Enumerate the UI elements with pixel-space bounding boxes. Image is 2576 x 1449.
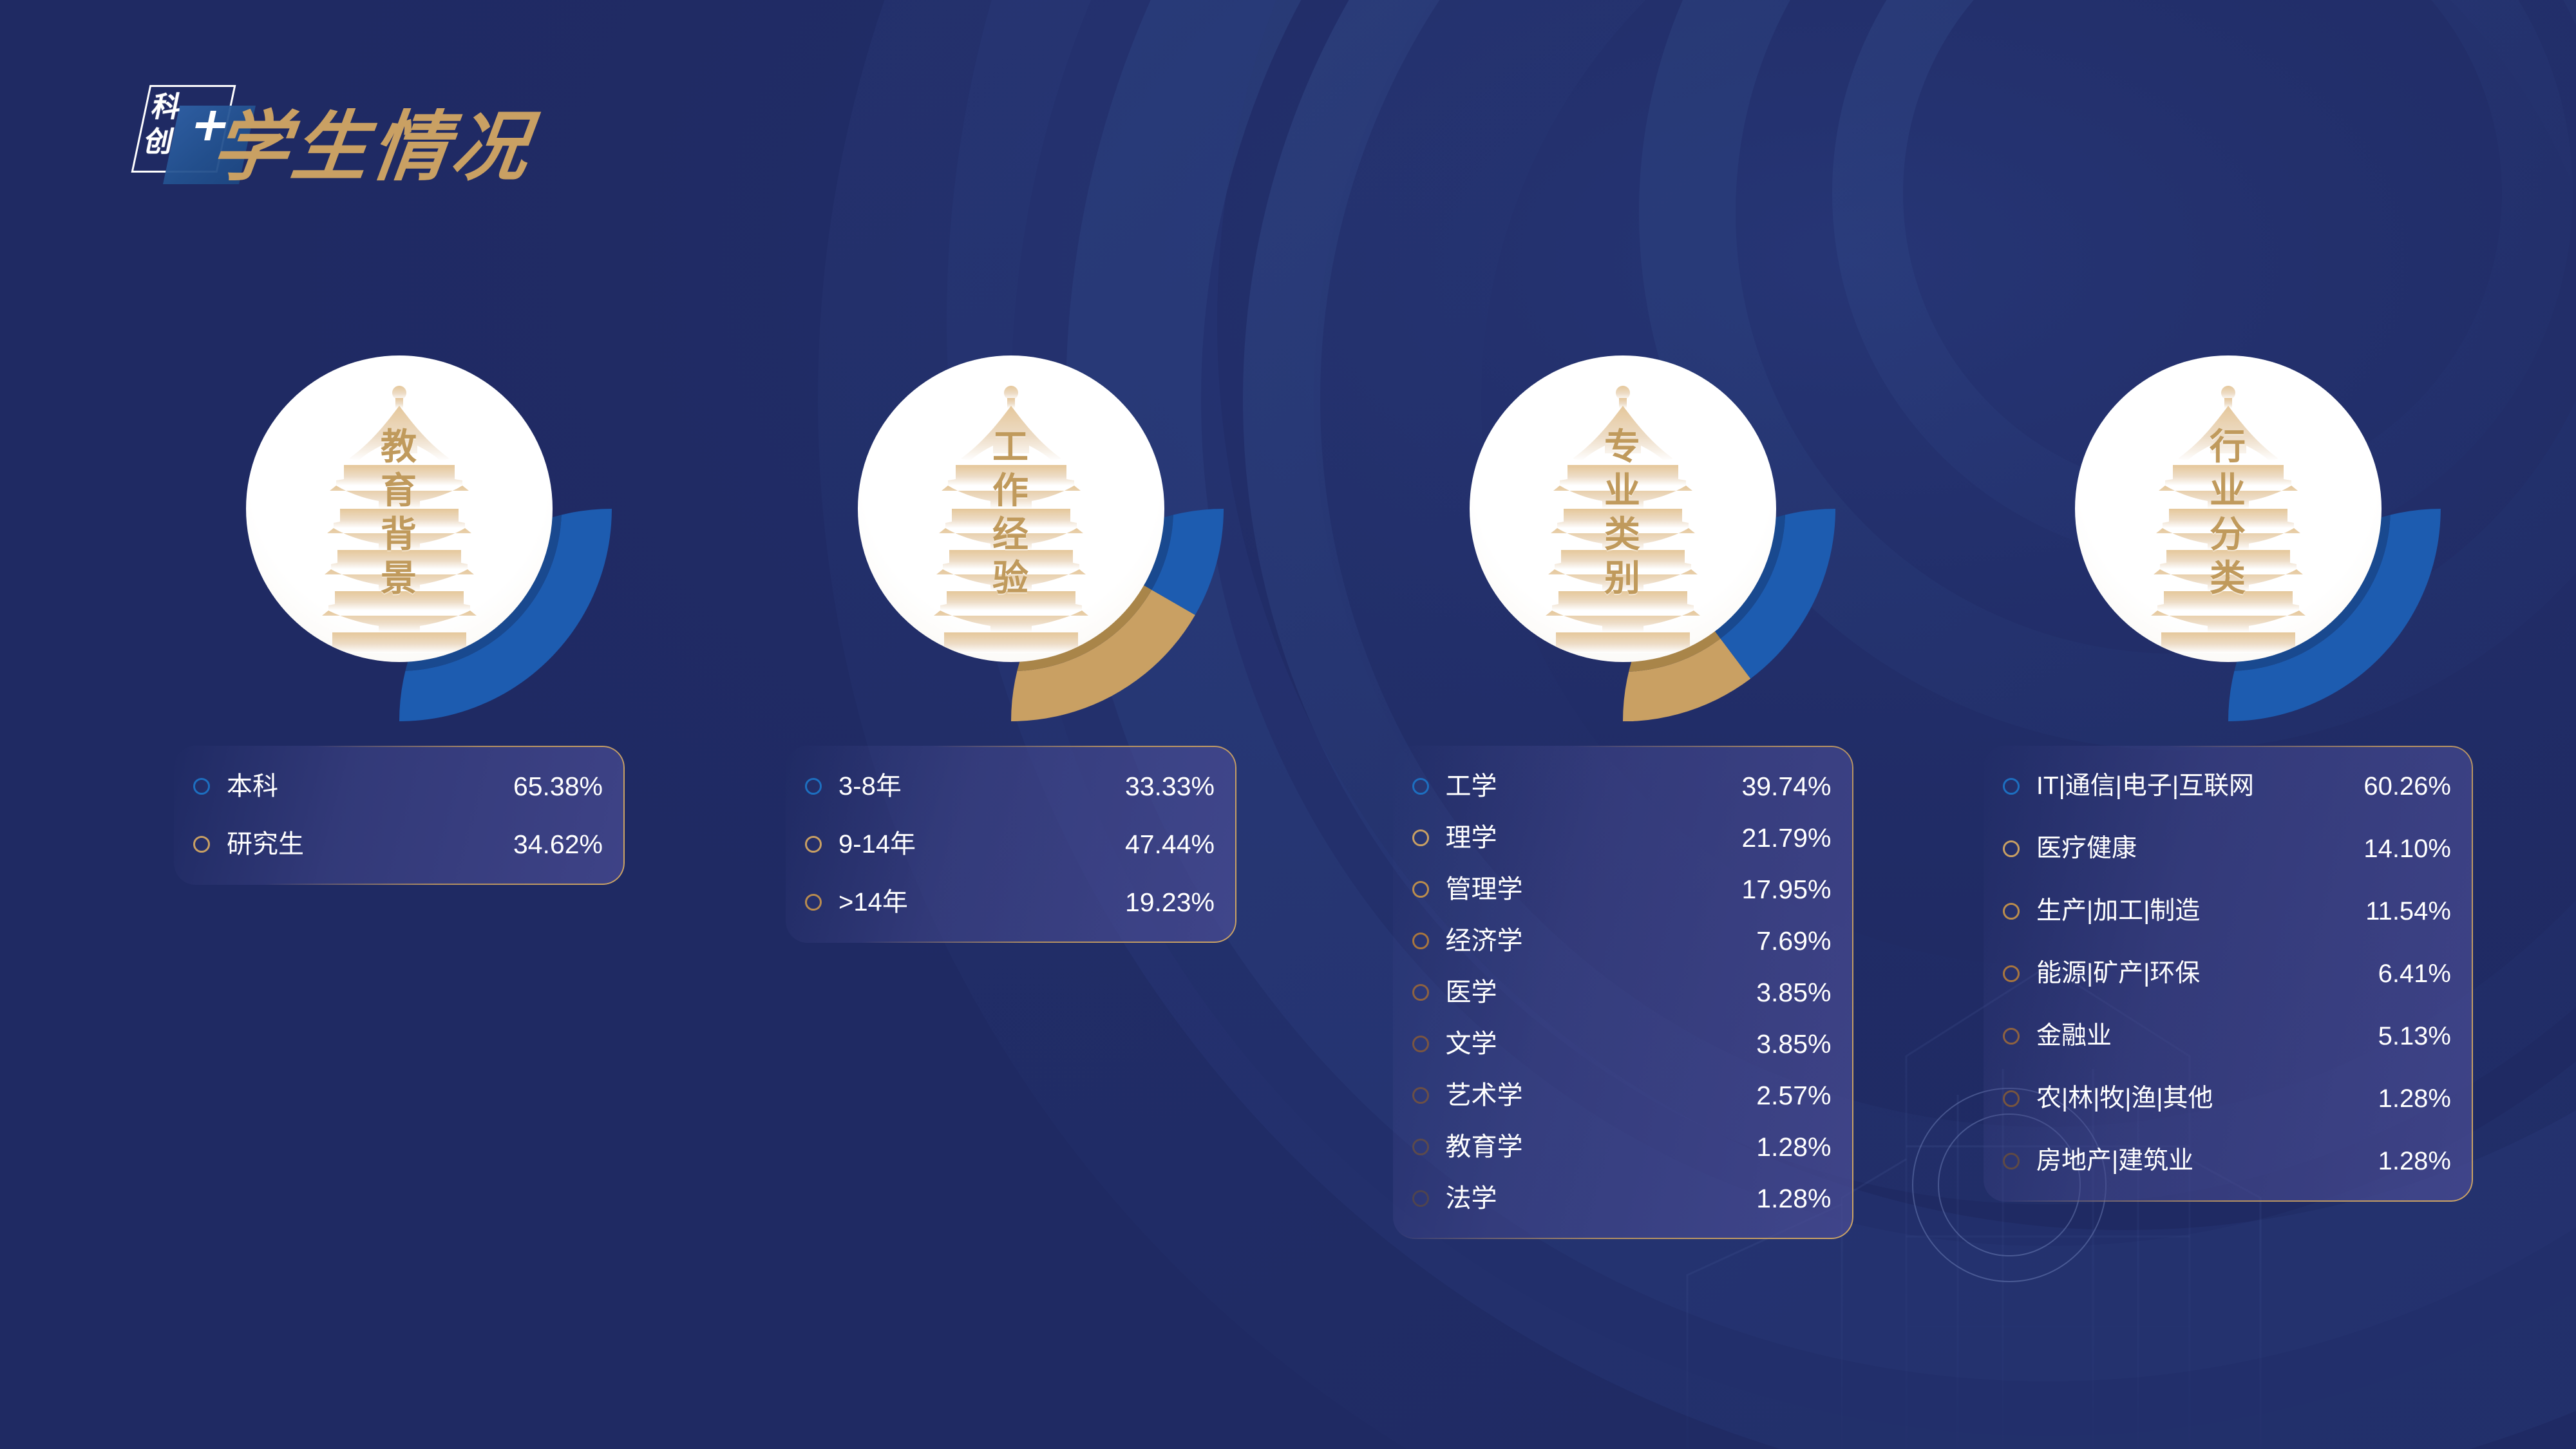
legend-item[interactable]: 医学 3.85% [1412, 978, 1832, 1007]
legend-item[interactable]: 生产|加工|制造 11.54% [2003, 896, 2451, 926]
legend-item[interactable]: 经济学 7.69% [1412, 926, 1832, 956]
legend-marker-icon [1412, 1139, 1429, 1155]
legend-value: 2.57% [1756, 1081, 1831, 1110]
legend-marker-icon [1412, 881, 1429, 898]
legend-value: 1.28% [1756, 1132, 1831, 1162]
legend-label: 能源|矿产|环保 [2036, 959, 2378, 989]
legend-item[interactable]: 农|林|牧|渔|其他 1.28% [2003, 1084, 2451, 1113]
donut-center-major: 专业类别 [1470, 355, 1776, 662]
legend-value: 11.54% [2365, 896, 2451, 926]
legend-value: 1.28% [2378, 1146, 2451, 1176]
legend-item[interactable]: 工学 39.74% [1412, 772, 1832, 801]
legend-item[interactable]: 教育学 1.28% [1412, 1132, 1832, 1162]
legend-marker-icon [193, 778, 210, 795]
legend-label: >14年 [838, 887, 1125, 917]
legend-marker-icon [193, 836, 210, 853]
legend-marker-icon [1412, 1036, 1429, 1052]
legend-marker-icon [805, 894, 822, 911]
legend-label: 医疗健康 [2036, 834, 2363, 864]
legend-item[interactable]: 3-8年 33.33% [805, 772, 1215, 801]
legend-item[interactable]: 本科 65.38% [193, 772, 603, 801]
chart-column-education: 教育背景 本科 65.38% 研究生 34.62% [109, 296, 689, 885]
legend-marker-icon [2003, 1028, 2020, 1045]
legend-value: 33.33% [1125, 772, 1215, 801]
legend-value: 17.95% [1741, 875, 1831, 904]
legend-item[interactable]: 艺术学 2.57% [1412, 1081, 1832, 1110]
legend-item[interactable]: 理学 21.79% [1412, 823, 1832, 853]
legend-value: 3.85% [1756, 978, 1831, 1007]
legend-value: 3.85% [1756, 1029, 1831, 1059]
donut-chart-experience: 工作经验 [799, 296, 1224, 721]
legend-value: 34.62% [513, 829, 603, 859]
legend-item[interactable]: 能源|矿产|环保 6.41% [2003, 959, 2451, 989]
legend-item[interactable]: 9-14年 47.44% [805, 829, 1215, 859]
donut-chart-major: 专业类别 [1410, 296, 1835, 721]
legend-label: 工学 [1446, 772, 1742, 801]
legend-marker-icon [1412, 984, 1429, 1001]
legend-marker-icon [805, 836, 822, 853]
legend-item[interactable]: 文学 3.85% [1412, 1029, 1832, 1059]
legend-label: 理学 [1446, 823, 1742, 853]
legend-item[interactable]: 医疗健康 14.10% [2003, 834, 2451, 864]
donut-center-label: 专业类别 [1599, 425, 1647, 600]
legend-marker-icon [2003, 1153, 2020, 1170]
legend-marker-icon [2003, 778, 2020, 795]
legend-panel-education: 本科 65.38% 研究生 34.62% [174, 746, 625, 885]
donut-center-label: 工作经验 [987, 425, 1035, 600]
legend-value: 60.26% [2363, 772, 2451, 801]
legend-label: 农|林|牧|渔|其他 [2036, 1084, 2378, 1113]
legend-label: 本科 [227, 772, 513, 801]
legend-marker-icon [1412, 1190, 1429, 1207]
legend-label: 生产|加工|制造 [2036, 896, 2365, 926]
legend-item[interactable]: 房地产|建筑业 1.28% [2003, 1146, 2451, 1176]
legend-label: 艺术学 [1446, 1081, 1757, 1110]
donut-center-education: 教育背景 [246, 355, 553, 662]
legend-panel-industry: IT|通信|电子|互联网 60.26% 医疗健康 14.10% 生产|加工|制造… [1984, 746, 2473, 1202]
legend-label: 房地产|建筑业 [2036, 1146, 2378, 1176]
legend-value: 14.10% [2363, 834, 2451, 864]
legend-label: 文学 [1446, 1029, 1757, 1059]
legend-value: 47.44% [1125, 829, 1215, 859]
legend-item[interactable]: IT|通信|电子|互联网 60.26% [2003, 772, 2451, 801]
legend-item[interactable]: 管理学 17.95% [1412, 875, 1832, 904]
legend-item[interactable]: >14年 19.23% [805, 887, 1215, 917]
legend-marker-icon [805, 778, 822, 795]
donut-center-industry: 行业分类 [2075, 355, 2382, 662]
legend-value: 65.38% [513, 772, 603, 801]
legend-value: 39.74% [1741, 772, 1831, 801]
legend-marker-icon [2003, 965, 2020, 982]
legend-label: 研究生 [227, 829, 513, 859]
legend-marker-icon [2003, 840, 2020, 857]
legend-label: IT|通信|电子|互联网 [2036, 772, 2363, 801]
legend-marker-icon [1412, 829, 1429, 846]
legend-label: 3-8年 [838, 772, 1125, 801]
legend-label: 法学 [1446, 1184, 1757, 1213]
legend-value: 19.23% [1125, 887, 1215, 917]
legend-label: 管理学 [1446, 875, 1742, 904]
chart-column-major: 专业类别 工学 39.74% 理学 21.79% 管理学 17.95% 经济学 [1333, 296, 1913, 1239]
legend-value: 21.79% [1741, 823, 1831, 853]
legend-value: 6.41% [2378, 959, 2451, 989]
donut-center-experience: 工作经验 [858, 355, 1164, 662]
donut-chart-education: 教育背景 [187, 296, 612, 721]
legend-value: 7.69% [1756, 926, 1831, 956]
legend-label: 9-14年 [838, 829, 1125, 859]
chart-column-experience: 工作经验 3-8年 33.33% 9-14年 47.44% >14年 19.23… [721, 296, 1301, 943]
donut-center-label: 教育背景 [375, 425, 423, 600]
donut-chart-industry: 行业分类 [2016, 296, 2441, 721]
legend-label: 经济学 [1446, 926, 1757, 956]
legend-value: 5.13% [2378, 1021, 2451, 1051]
charts-container: 教育背景 本科 65.38% 研究生 34.62% [0, 0, 2576, 1449]
legend-item[interactable]: 法学 1.28% [1412, 1184, 1832, 1213]
legend-item[interactable]: 研究生 34.62% [193, 829, 603, 859]
donut-center-label: 行业分类 [2204, 425, 2252, 600]
legend-marker-icon [2003, 1090, 2020, 1107]
legend-panel-major: 工学 39.74% 理学 21.79% 管理学 17.95% 经济学 7.69%… [1393, 746, 1853, 1239]
legend-label: 医学 [1446, 978, 1757, 1007]
legend-marker-icon [1412, 1087, 1429, 1104]
legend-marker-icon [1412, 778, 1429, 795]
legend-marker-icon [1412, 933, 1429, 949]
legend-panel-experience: 3-8年 33.33% 9-14年 47.44% >14年 19.23% [786, 746, 1236, 943]
legend-label: 教育学 [1446, 1132, 1757, 1162]
legend-marker-icon [2003, 903, 2020, 920]
legend-value: 1.28% [2378, 1084, 2451, 1113]
legend-value: 1.28% [1756, 1184, 1831, 1213]
legend-label: 金融业 [2036, 1021, 2378, 1051]
chart-column-industry: 行业分类 IT|通信|电子|互联网 60.26% 医疗健康 14.10% 生产|… [1938, 296, 2518, 1202]
legend-item[interactable]: 金融业 5.13% [2003, 1021, 2451, 1051]
